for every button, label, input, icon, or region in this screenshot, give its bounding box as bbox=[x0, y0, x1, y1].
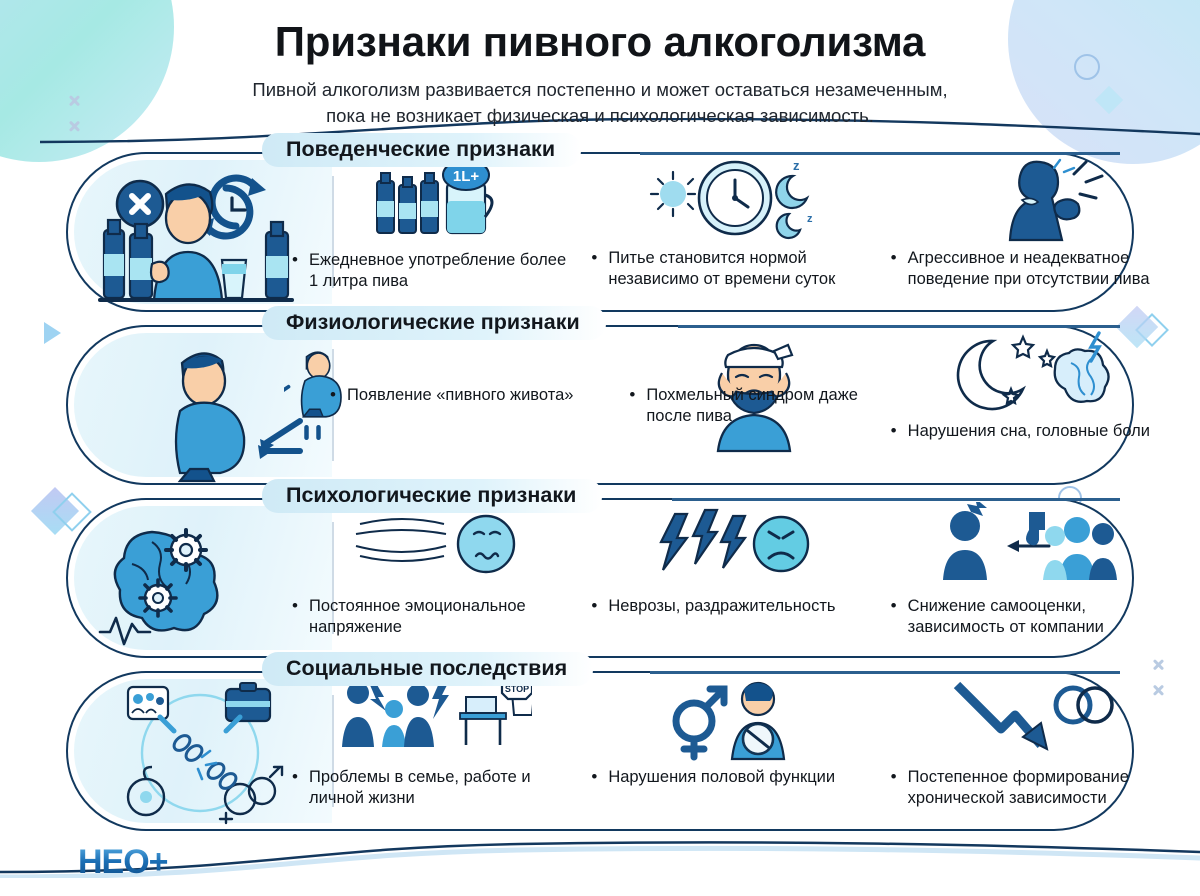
list-item-text: Появление «пивного живота» bbox=[330, 385, 579, 406]
angry-face-lightning-icon bbox=[583, 502, 882, 588]
section-rule bbox=[650, 671, 1120, 674]
section-items: Появление «пивного живота» bbox=[284, 325, 1182, 485]
tense-face-icon bbox=[284, 502, 583, 588]
section-heading-physiological: Физиологические признаки bbox=[262, 306, 606, 340]
list-item: Постепенное формирование хронической зав… bbox=[883, 671, 1182, 831]
section-heading-behavioral: Поведенческие признаки bbox=[262, 133, 581, 167]
section-social: Социальные последствия bbox=[0, 663, 1200, 831]
section-physiological: Физиологические признаки Появлени bbox=[0, 317, 1200, 485]
list-item: Неврозы, раздражительность bbox=[583, 498, 882, 658]
list-item: STOP Проблемы в семье, работе и личной ж… bbox=[284, 671, 583, 831]
list-item: Агрессивное и неадекватное поведение при… bbox=[883, 152, 1182, 312]
list-item-text: Нарушения половой функции bbox=[591, 767, 878, 788]
list-item-text: Постепенное формирование хронической зав… bbox=[891, 767, 1178, 809]
beer-bottles-one-liter-icon: 1L+ bbox=[284, 156, 583, 242]
list-item-text: Питье становится нормой независимо от вр… bbox=[591, 248, 878, 290]
clock-day-night-icon: z z bbox=[583, 156, 882, 242]
list-item: Снижение самооценки, зависимость от комп… bbox=[883, 498, 1182, 658]
list-item-text: Неврозы, раздражительность bbox=[591, 596, 878, 617]
declining-arrow-rings-icon bbox=[883, 675, 1182, 761]
family-conflict-work-stop-icon: STOP bbox=[284, 675, 583, 761]
section-heading-social: Социальные последствия bbox=[262, 652, 593, 686]
svg-text:z: z bbox=[793, 158, 800, 173]
gender-symbol-blocked-icon bbox=[583, 675, 882, 761]
list-item-text: Ежедневное употребление более 1 литра пи… bbox=[292, 250, 579, 292]
shouting-man-fist-icon bbox=[883, 156, 1182, 242]
moon-brain-insomnia-icon bbox=[883, 329, 1182, 419]
section-heading-psychological: Психологические признаки bbox=[262, 479, 602, 513]
list-item-text: Постоянное эмоциональное напряжение bbox=[292, 596, 579, 638]
subtitle-line-2: пока не возникает физическая и психологи… bbox=[326, 105, 874, 126]
section-items: STOP Проблемы в семье, работе и личной ж… bbox=[284, 671, 1182, 831]
list-item: Постоянное эмоциональное напряжение bbox=[284, 498, 583, 658]
list-item-text: Снижение самооценки, зависимость от комп… bbox=[891, 596, 1178, 638]
footer: НЕО+ bbox=[78, 843, 168, 882]
list-item-text: Нарушения сна, головные боли bbox=[891, 421, 1178, 442]
svg-text:1L+: 1L+ bbox=[453, 168, 480, 185]
section-rule bbox=[672, 498, 1120, 501]
list-item-text: Агрессивное и неадекватное поведение при… bbox=[891, 248, 1178, 290]
section-psychological: Психологические признаки bbox=[0, 490, 1200, 658]
section-items: Постоянное эмоциональное напряжение bbox=[284, 498, 1182, 658]
list-item: z z Питье становится нормой независимо о… bbox=[583, 152, 882, 312]
section-rule bbox=[678, 325, 1120, 328]
list-item: Нарушения половой функции bbox=[583, 671, 882, 831]
list-item-text: Похмельный синдром даже после пива bbox=[629, 385, 878, 427]
thumbs-down-group-icon bbox=[883, 502, 1182, 588]
list-item: 1L+ Ежедневное употребление более 1 литр… bbox=[284, 152, 583, 312]
svg-text:z: z bbox=[807, 213, 813, 225]
section-rule bbox=[640, 152, 1120, 155]
page-header: Признаки пивного алкоголизма Пивной алко… bbox=[0, 0, 1200, 128]
section-items: 1L+ Ежедневное употребление более 1 литр… bbox=[284, 152, 1182, 312]
page-title: Признаки пивного алкоголизма bbox=[0, 18, 1200, 65]
section-behavioral: Поведенческие признаки bbox=[0, 144, 1200, 312]
page-subtitle: Пивной алкоголизм развивается постепенно… bbox=[175, 77, 1025, 128]
decor-footer-sweep bbox=[0, 838, 1200, 878]
list-item-text: Проблемы в семье, работе и личной жизни bbox=[292, 767, 579, 809]
brand-logo: НЕО+ bbox=[78, 843, 168, 881]
subtitle-line-1: Пивной алкоголизм развивается постепенно… bbox=[252, 79, 947, 100]
sections-list: Поведенческие признаки bbox=[0, 144, 1200, 831]
